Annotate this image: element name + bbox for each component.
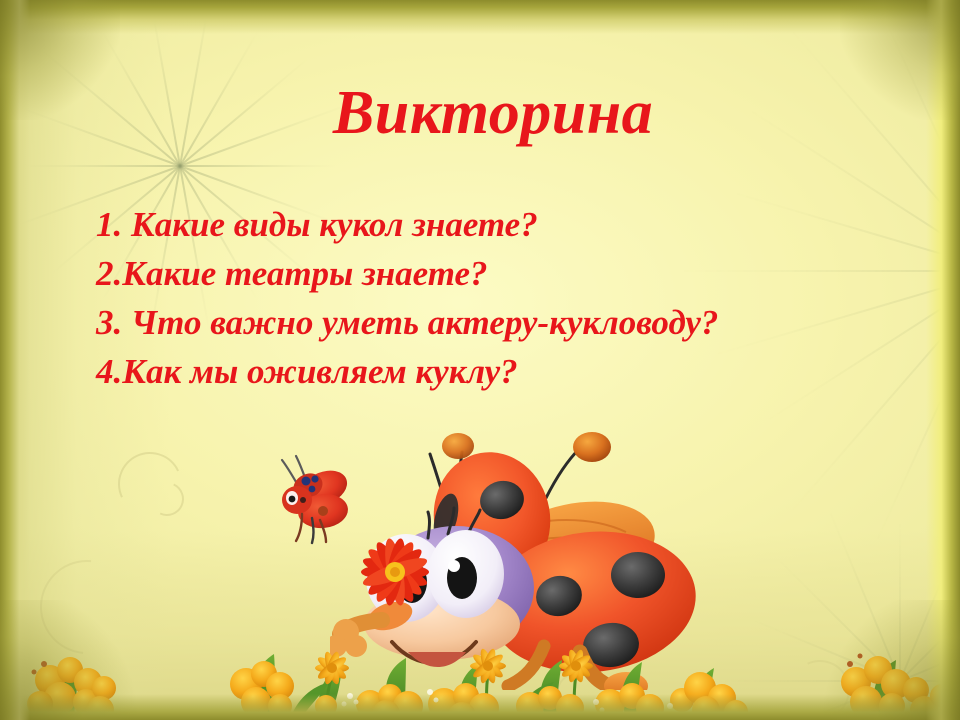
question-item: 1. Какие виды кукол знаете?: [96, 200, 896, 249]
question-item: 2.Какие театры знаете?: [96, 249, 896, 298]
question-item: 4.Как мы оживляем куклу?: [96, 347, 896, 396]
page-title-text: Викторина: [307, 79, 653, 147]
page-title: Викторина: [0, 78, 960, 149]
question-item: 3. Что важно уметь актеру-кукловоду?: [96, 298, 896, 347]
question-list: 1. Какие виды кукол знаете? 2.Какие теат…: [96, 200, 896, 396]
presentation-slide: Викторина 1. Какие виды кукол знаете? 2.…: [0, 0, 960, 720]
